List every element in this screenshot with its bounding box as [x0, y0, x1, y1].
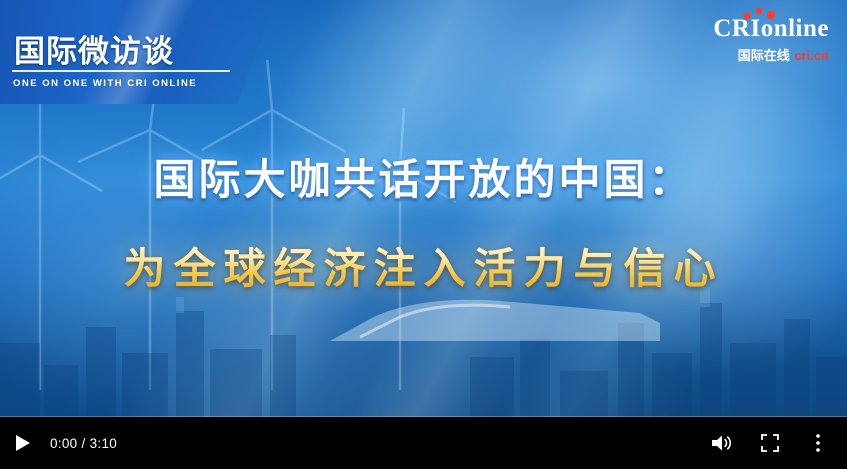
logo-url: cri.cn — [794, 48, 829, 63]
kebab-menu-icon — [815, 433, 821, 453]
headline-block: 国际大咖共话开放的中国： 为全球经济注入活力与信心 — [0, 146, 847, 296]
volume-icon — [711, 434, 733, 452]
badge-divider — [12, 70, 230, 72]
timecode-label: 0:00 / 3:10 — [50, 436, 117, 451]
cri-online-logo: CRIonline 国际在线 cri.cn — [713, 16, 829, 64]
more-options-button[interactable] — [805, 430, 831, 456]
badge-subtitle-en: ONE ON ONE WITH CRI ONLINE — [13, 78, 197, 89]
logo-subtitle: 国际在线 cri.cn — [713, 45, 829, 64]
controls-right-group — [709, 430, 847, 456]
fullscreen-button[interactable] — [757, 430, 783, 456]
play-button[interactable] — [10, 430, 36, 456]
logo-dots-icon — [739, 7, 783, 23]
logo-wordmark: CRIonline — [713, 16, 829, 42]
video-controls-bar[interactable]: 0:00 / 3:10 — [0, 417, 847, 469]
volume-button[interactable] — [709, 430, 735, 456]
controls-left-group: 0:00 / 3:10 — [0, 430, 117, 456]
play-icon — [15, 434, 31, 452]
video-player[interactable]: 国际微访谈 ONE ON ONE WITH CRI ONLINE CRIonli… — [0, 0, 847, 469]
headline-line-1: 国际大咖共话开放的中国： — [0, 146, 847, 207]
headline-line-2: 为全球经济注入活力与信心 — [0, 235, 847, 296]
logo-subtitle-cn: 国际在线 — [738, 49, 790, 64]
badge-title-cn: 国际微访谈 — [14, 26, 174, 71]
program-badge: 国际微访谈 ONE ON ONE WITH CRI ONLINE — [0, 0, 276, 104]
fullscreen-icon — [761, 434, 779, 452]
